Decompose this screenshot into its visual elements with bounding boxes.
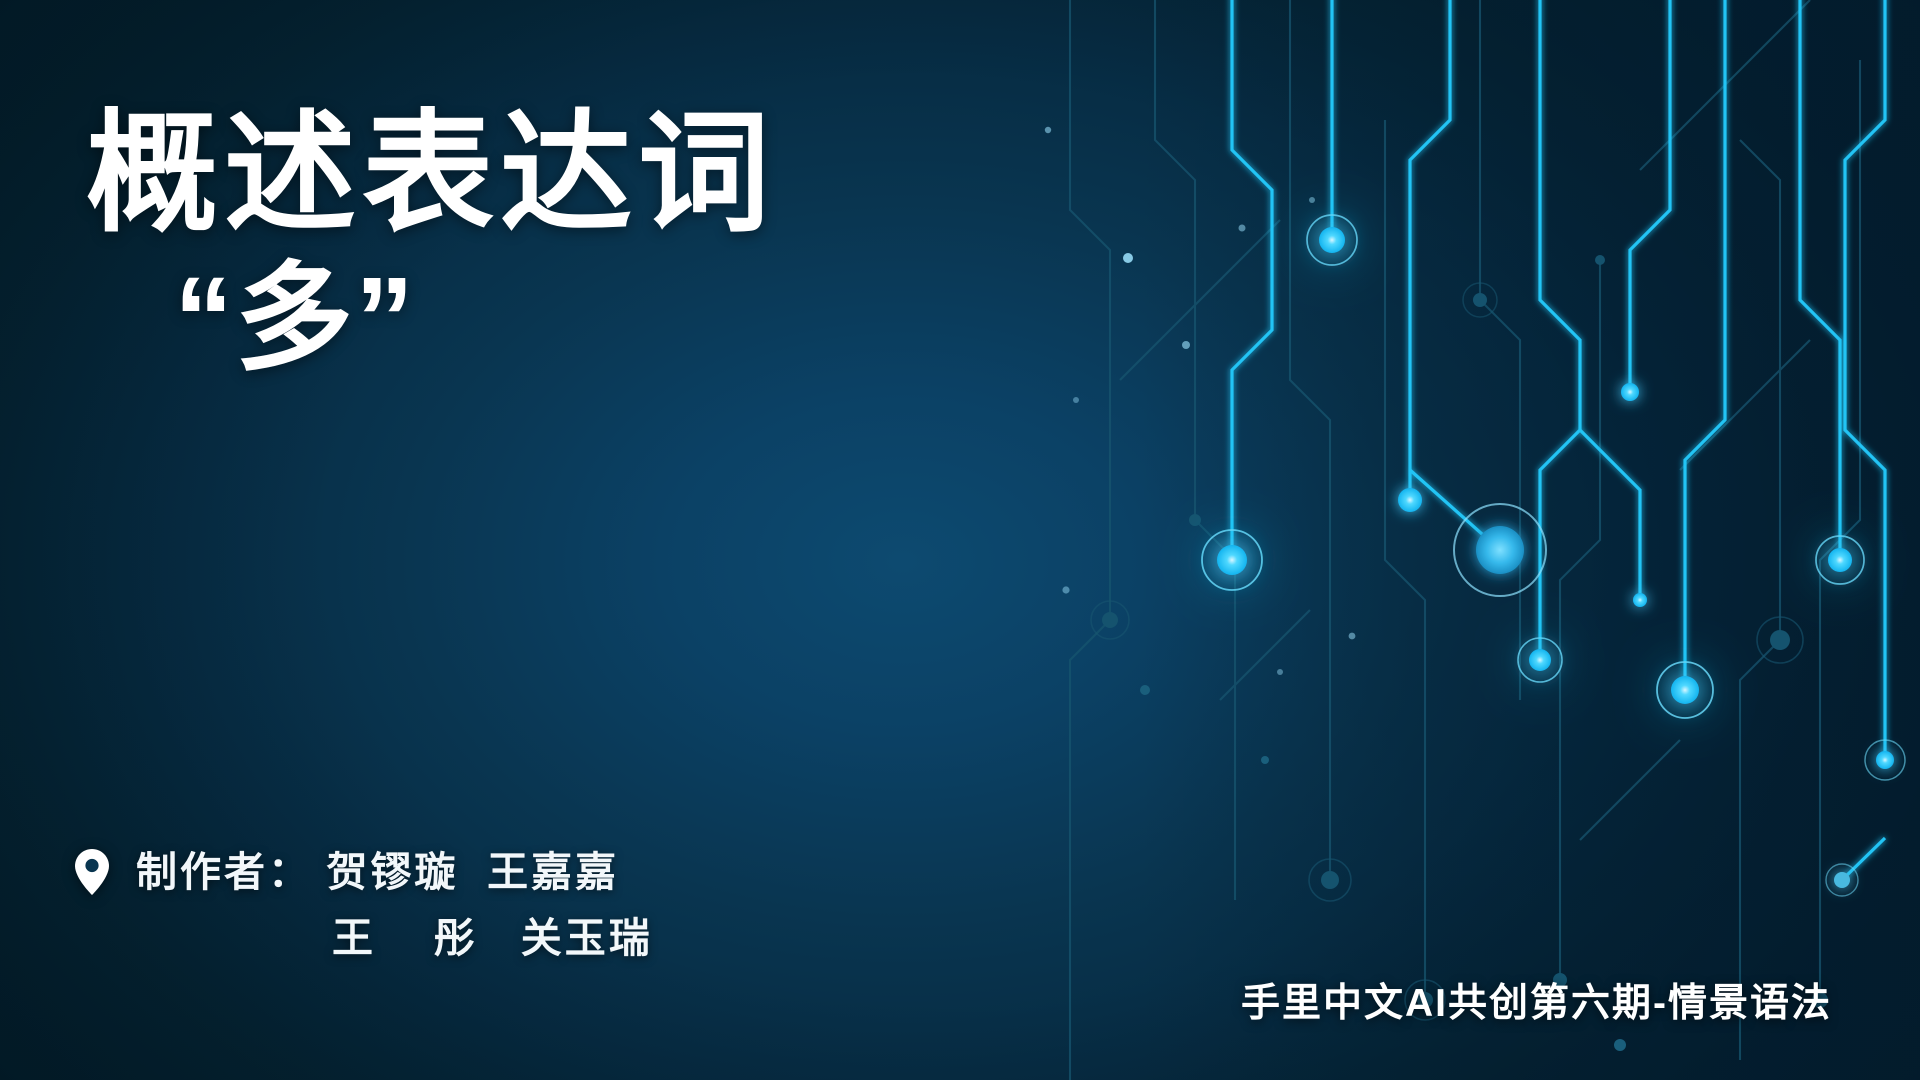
credit-lines: 制作者： 贺镠璇 王嘉嘉 王 彤 关玉瑞 — [136, 838, 653, 964]
title-block: 概述表达词 “多” — [86, 108, 966, 382]
page-title: 概述表达词 — [86, 108, 966, 240]
circuit-board-decoration — [980, 0, 1920, 1080]
circuit-traces-dim — [1070, 0, 1860, 1080]
credits-block: 制作者： 贺镠璇 王嘉嘉 王 彤 关玉瑞 — [74, 838, 653, 964]
credit-line-2: 王 彤 关玉瑞 — [136, 904, 653, 964]
location-pin-icon — [74, 848, 110, 901]
credit-line-1: 制作者： 贺镠璇 王嘉嘉 — [136, 838, 653, 898]
circuit-nodes-dim — [1091, 255, 1828, 1051]
page-subtitle: “多” — [86, 258, 966, 382]
circuit-sparkles — [1045, 127, 1356, 675]
circuit-nodes-lit — [1202, 215, 1905, 896]
presentation-slide: 概述表达词 “多” 制作者： 贺镠璇 王嘉嘉 王 彤 关玉瑞 手里中文AI共创第… — [0, 0, 1920, 1080]
footer-series-tag: 手里中文AI共创第六期-情景语法 — [1241, 972, 1832, 1028]
